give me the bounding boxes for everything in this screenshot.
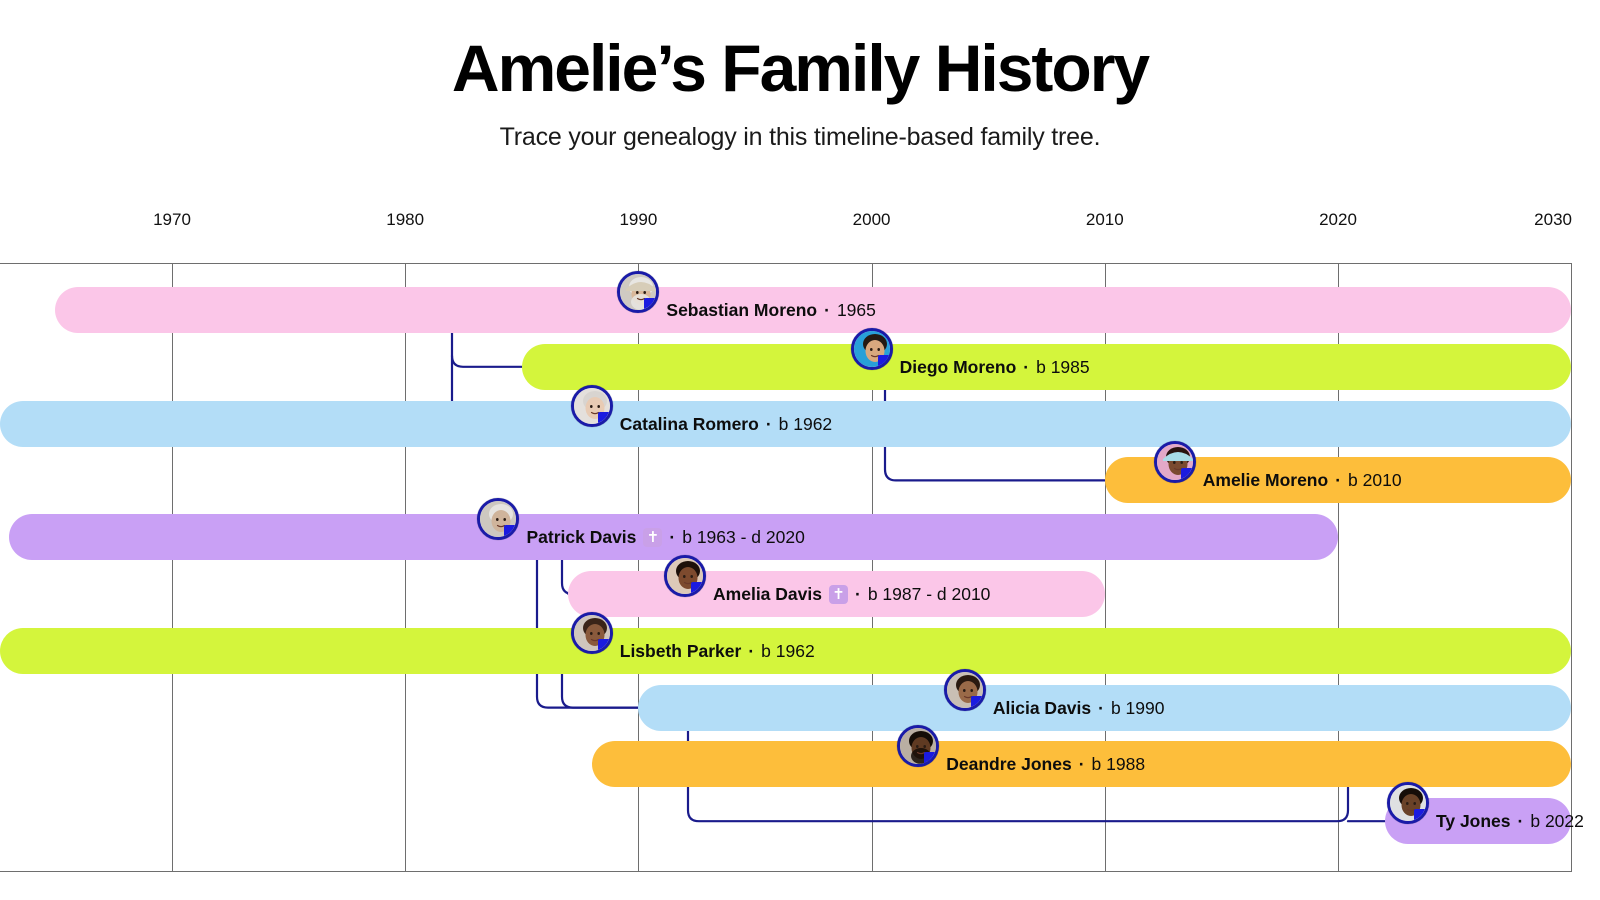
- label-separator: ·: [1016, 357, 1036, 378]
- timeline-row: Diego Moreno·b 1985: [0, 344, 1572, 390]
- avatar-badge-icon: [598, 639, 611, 652]
- avatar-catalina-romero[interactable]: [571, 385, 613, 427]
- person-name: Amelie Moreno: [1203, 470, 1328, 491]
- person-label-lisbeth[interactable]: Lisbeth Parker·b 1962: [620, 641, 815, 662]
- person-label-diego[interactable]: Diego Moreno·b 1985: [900, 357, 1090, 378]
- avatar-badge-icon: [504, 525, 517, 538]
- avatar-badge-icon: [924, 752, 937, 765]
- timeline-plot-area: Sebastian Moreno·1965 Diego Moreno·b 198…: [0, 263, 1572, 872]
- person-dates: 1965: [837, 300, 876, 321]
- timeline-row: Sebastian Moreno·1965: [0, 287, 1572, 333]
- person-name: Alicia Davis: [993, 698, 1091, 719]
- page-subtitle: Trace your genealogy in this timeline-ba…: [0, 103, 1600, 152]
- avatar-badge-icon: [1414, 809, 1427, 822]
- avatar-amelie-moreno[interactable]: [1154, 441, 1196, 483]
- avatar-badge-icon: [878, 355, 891, 368]
- axis-tick-1970: 1970: [153, 210, 191, 230]
- person-name: Diego Moreno: [900, 357, 1017, 378]
- person-label-amelia[interactable]: Amelia Davis✝·b 1987 - d 2010: [713, 584, 990, 605]
- label-separator: ·: [759, 414, 779, 435]
- avatar-lisbeth-parker[interactable]: [571, 612, 613, 654]
- person-dates: b 1963 - d 2020: [682, 527, 805, 548]
- axis-tick-2010: 2010: [1086, 210, 1124, 230]
- avatar-badge-icon: [644, 298, 657, 311]
- avatar-badge-icon: [691, 582, 704, 595]
- axis-tick-1990: 1990: [619, 210, 657, 230]
- avatar-diego-moreno[interactable]: [851, 328, 893, 370]
- avatar-deandre-jones[interactable]: [897, 725, 939, 767]
- label-separator: ·: [817, 300, 837, 321]
- avatar-patrick-davis[interactable]: [477, 498, 519, 540]
- timeline-axis: 1970198019902000201020202030: [0, 210, 1600, 240]
- timeline-row: Alicia Davis·b 1990: [0, 685, 1572, 731]
- label-separator: ·: [1091, 698, 1111, 719]
- person-label-catalina[interactable]: Catalina Romero·b 1962: [620, 414, 832, 435]
- axis-tick-2020: 2020: [1319, 210, 1357, 230]
- person-label-deandre[interactable]: Deandre Jones·b 1988: [946, 754, 1145, 775]
- person-label-ty[interactable]: Ty Jones·b 2022: [1436, 811, 1584, 832]
- avatar-ty-jones[interactable]: [1387, 782, 1429, 824]
- person-label-sebastian[interactable]: Sebastian Moreno·1965: [666, 300, 876, 321]
- person-name: Ty Jones: [1436, 811, 1511, 832]
- family-timeline-page: Amelie’s Family History Trace your genea…: [0, 0, 1600, 900]
- person-name: Patrick Davis: [526, 527, 636, 548]
- cross-icon: ✝: [643, 528, 662, 547]
- person-name: Lisbeth Parker: [620, 641, 742, 662]
- avatar-sebastian-moreno[interactable]: [617, 271, 659, 313]
- label-separator: ·: [1072, 754, 1092, 775]
- person-dates: b 2010: [1348, 470, 1402, 491]
- label-separator: ·: [1511, 811, 1531, 832]
- axis-tick-2000: 2000: [853, 210, 891, 230]
- axis-tick-1980: 1980: [386, 210, 424, 230]
- person-label-amelie[interactable]: Amelie Moreno·b 2010: [1203, 470, 1402, 491]
- person-dates: b 1962: [779, 414, 833, 435]
- timeline-row: Amelie Moreno·b 2010: [0, 457, 1572, 503]
- cross-icon: ✝: [829, 585, 848, 604]
- page-header: Amelie’s Family History Trace your genea…: [0, 0, 1600, 152]
- person-name: Sebastian Moreno: [666, 300, 817, 321]
- label-separator: ·: [848, 584, 868, 605]
- timeline-row: Patrick Davis✝·b 1963 - d 2020: [0, 514, 1572, 560]
- axis-tick-2030: 2030: [1534, 210, 1572, 230]
- label-separator: ·: [1328, 470, 1348, 491]
- label-separator: ·: [741, 641, 761, 662]
- person-name: Amelia Davis: [713, 584, 822, 605]
- person-dates: b 2022: [1530, 811, 1584, 832]
- person-label-alicia[interactable]: Alicia Davis·b 1990: [993, 698, 1165, 719]
- page-title: Amelie’s Family History: [0, 0, 1600, 103]
- timeline-row: Catalina Romero·b 1962: [0, 401, 1572, 447]
- person-name: Catalina Romero: [620, 414, 759, 435]
- avatar-badge-icon: [1181, 468, 1194, 481]
- person-dates: b 1990: [1111, 698, 1165, 719]
- timeline-row: Lisbeth Parker·b 1962: [0, 628, 1572, 674]
- avatar-badge-icon: [971, 696, 984, 709]
- avatar-amelia-davis[interactable]: [664, 555, 706, 597]
- timeline-row: Ty Jones·b 2022: [0, 798, 1572, 844]
- person-dates: b 1985: [1036, 357, 1090, 378]
- avatar-alicia-davis[interactable]: [944, 669, 986, 711]
- avatar-badge-icon: [598, 412, 611, 425]
- label-separator: ·: [662, 527, 682, 548]
- person-dates: b 1962: [761, 641, 815, 662]
- person-label-patrick[interactable]: Patrick Davis✝·b 1963 - d 2020: [526, 527, 804, 548]
- person-name: Deandre Jones: [946, 754, 1071, 775]
- timeline-row: Deandre Jones·b 1988: [0, 741, 1572, 787]
- person-dates: b 1987 - d 2010: [868, 584, 991, 605]
- timeline-row: Amelia Davis✝·b 1987 - d 2010: [0, 571, 1572, 617]
- person-dates: b 1988: [1092, 754, 1146, 775]
